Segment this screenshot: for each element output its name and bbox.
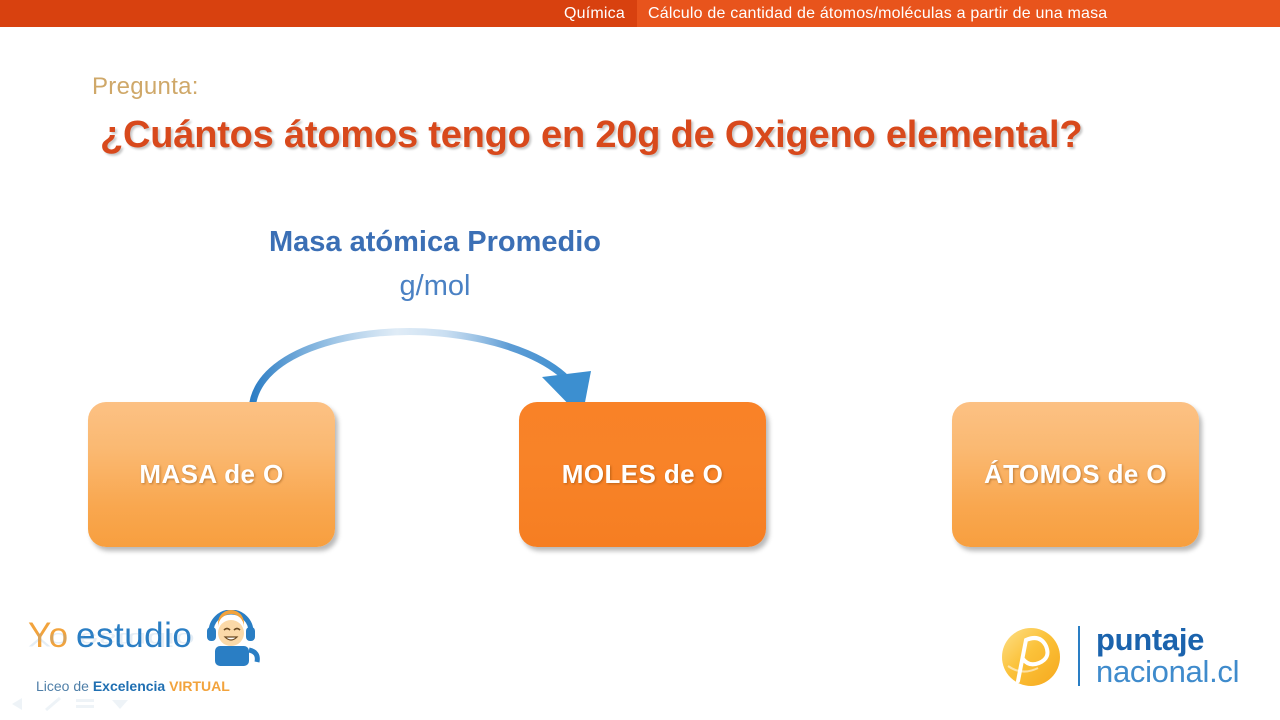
flow-box-moles-label: MOLES de O <box>562 459 723 490</box>
ghost-player-controls <box>6 692 146 716</box>
nacional-word: nacional.cl <box>1096 654 1239 690</box>
yoestudio-word-estudio: estudio <box>76 616 192 656</box>
header-topic-segment: Cálculo de cantidad de átomos/moléculas … <box>637 0 1280 27</box>
student-headphones-icon <box>193 610 273 666</box>
yoestudio-word-yo: Yo <box>28 616 69 656</box>
puntajenacional-logo: puntaje nacional.cl <box>1000 622 1236 694</box>
puntaje-word: puntaje <box>1096 622 1204 658</box>
curved-arrow-icon <box>230 305 610 415</box>
question-title: ¿Cuántos átomos tengo en 20g de Oxigeno … <box>100 114 1082 157</box>
flow-box-atomos[interactable]: ÁTOMOS de O <box>952 402 1199 547</box>
flow-box-atomos-label: ÁTOMOS de O <box>984 459 1167 490</box>
flow-box-masa[interactable]: MASA de O <box>88 402 335 547</box>
puntaje-p-mark-icon <box>1000 626 1062 688</box>
header-bar: Química Cálculo de cantidad de átomos/mo… <box>0 0 1280 27</box>
conversion-factor-label: Masa atómica Promedio <box>0 226 870 259</box>
flow-box-moles[interactable]: MOLES de O <box>519 402 766 547</box>
slide-canvas: Química Cálculo de cantidad de átomos/mo… <box>0 0 1280 720</box>
conversion-factor-unit: g/mol <box>0 270 870 303</box>
tagline-part-virtual: VIRTUAL <box>169 678 230 694</box>
puntaje-logo-divider <box>1078 626 1080 686</box>
flow-box-masa-label: MASA de O <box>139 459 283 490</box>
header-subject-label: Química <box>564 0 625 27</box>
header-subject-segment: Química <box>0 0 637 27</box>
question-prefix-label: Pregunta: <box>92 73 199 101</box>
header-topic-label: Cálculo de cantidad de átomos/moléculas … <box>648 0 1107 27</box>
